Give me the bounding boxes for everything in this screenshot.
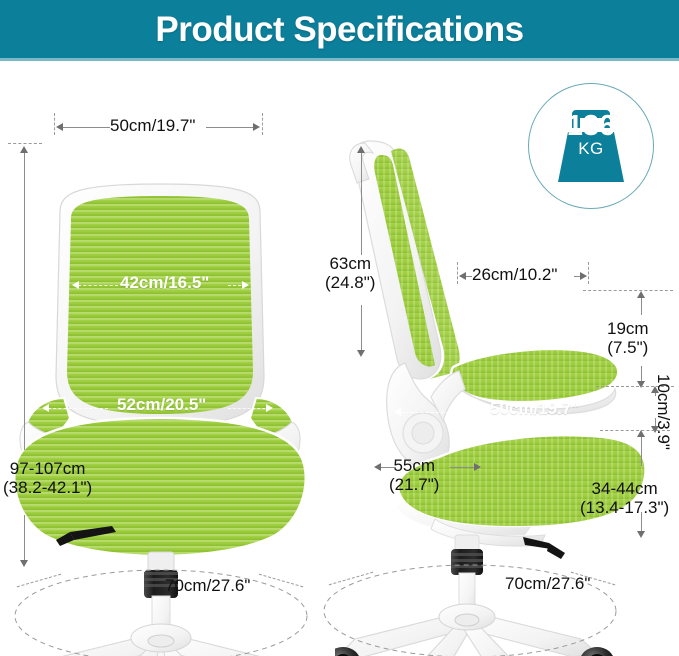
arrow-seat-depth-right bbox=[616, 408, 623, 416]
arrow-armrest-height-up bbox=[637, 291, 645, 298]
max-weight-unit: KG bbox=[529, 140, 653, 157]
guide-seat-depth-a bbox=[400, 412, 480, 413]
dim-seat-height-range-cm: 34-44cm bbox=[580, 480, 669, 499]
arrow-backrest-width-left bbox=[56, 123, 63, 131]
dim-armrest-length: 26cm/10.2" bbox=[472, 266, 557, 285]
guide-overall-height-line2 bbox=[24, 515, 25, 565]
arrow-seat-width-left bbox=[42, 404, 49, 412]
dim-backrest-width-inner: 42cm/16.5" bbox=[120, 274, 209, 293]
arrow-armrest-right bbox=[580, 272, 587, 280]
page-header-banner: Product Specifications bbox=[0, 0, 679, 58]
guide-seat-width-b bbox=[228, 408, 270, 409]
guide-overall-height-line bbox=[24, 150, 25, 450]
guide-overall-height-top bbox=[8, 143, 42, 144]
dim-backrest-height-cm: 63cm bbox=[325, 255, 375, 274]
guide-backrest-height-line bbox=[361, 150, 362, 255]
dim-armrest-to-seat: 19cm (7.5") bbox=[607, 320, 649, 357]
guide-backrest-height-line2 bbox=[361, 305, 362, 355]
product-specifications-page: Product Specifications bbox=[0, 0, 679, 656]
arrow-backrest-inner-left bbox=[72, 281, 79, 289]
arrow-overall-height-up bbox=[20, 146, 28, 153]
arrow-backrest-width-right bbox=[253, 123, 260, 131]
arrow-armrest-left bbox=[459, 272, 466, 280]
dim-armrest-to-seat-in: (7.5") bbox=[607, 339, 649, 358]
dim-base-diameter-front: 70cm/27.6" bbox=[165, 577, 250, 596]
dim-seat-front-depth: 55cm (21.7") bbox=[389, 457, 439, 494]
arrow-backrest-height-up bbox=[357, 146, 365, 153]
guide-backrest-width-line-a bbox=[58, 127, 110, 128]
dim-overall-height-in: (38.2-42.1") bbox=[3, 479, 92, 498]
arrow-seat-front-right bbox=[474, 463, 481, 471]
guide-backrest-width-left bbox=[54, 113, 55, 135]
arrow-seat-height-down bbox=[637, 531, 645, 538]
guide-armrest-left bbox=[457, 262, 458, 284]
arrow-seat-width-right bbox=[266, 404, 273, 412]
guide-seat-width-a bbox=[48, 408, 108, 409]
guide-backrest-width-right bbox=[262, 113, 263, 135]
max-weight-badge: 136 KG bbox=[528, 83, 654, 209]
arrow-seat-depth-left bbox=[394, 408, 401, 416]
dim-seat-depth: 50cm/19.7" bbox=[490, 400, 579, 419]
dim-seat-height-range: 34-44cm (13.4-17.3") bbox=[580, 480, 669, 517]
arrow-backrest-inner-right bbox=[242, 281, 249, 289]
dim-seat-front-depth-cm: 55cm bbox=[389, 457, 439, 476]
page-title: Product Specifications bbox=[155, 12, 523, 47]
guide-backrest-inner-a bbox=[78, 285, 118, 286]
dim-backrest-width-outer: 50cm/19.7" bbox=[110, 117, 195, 136]
dim-seat-thickness: 10cm/3.9" bbox=[653, 374, 672, 450]
guide-armrest-height-top bbox=[583, 290, 673, 291]
arrow-backrest-height-down bbox=[357, 350, 365, 357]
dim-seat-front-depth-in: (21.7") bbox=[389, 476, 439, 495]
guide-backrest-width-line-b bbox=[206, 127, 258, 128]
guide-armrest-right bbox=[588, 262, 589, 284]
dim-seat-height-range-in: (13.4-17.3") bbox=[580, 499, 669, 518]
dim-base-diameter-side: 70cm/27.6" bbox=[505, 575, 590, 594]
dim-armrest-to-seat-cm: 19cm bbox=[607, 320, 649, 339]
max-weight-value: 136 bbox=[529, 112, 653, 141]
dim-backrest-height-in: (24.8") bbox=[325, 274, 375, 293]
guide-seat-height-line bbox=[641, 432, 642, 466]
dim-seat-width: 52cm/20.5" bbox=[117, 396, 206, 415]
dim-overall-height-cm: 97-107cm bbox=[3, 460, 92, 479]
arrow-seat-front-left bbox=[374, 463, 381, 471]
dim-backrest-height: 63cm (24.8") bbox=[325, 255, 375, 292]
arrow-seat-height-up bbox=[637, 430, 645, 437]
dim-overall-height: 97-107cm (38.2-42.1") bbox=[3, 460, 92, 497]
arrow-overall-height-down bbox=[20, 560, 28, 567]
